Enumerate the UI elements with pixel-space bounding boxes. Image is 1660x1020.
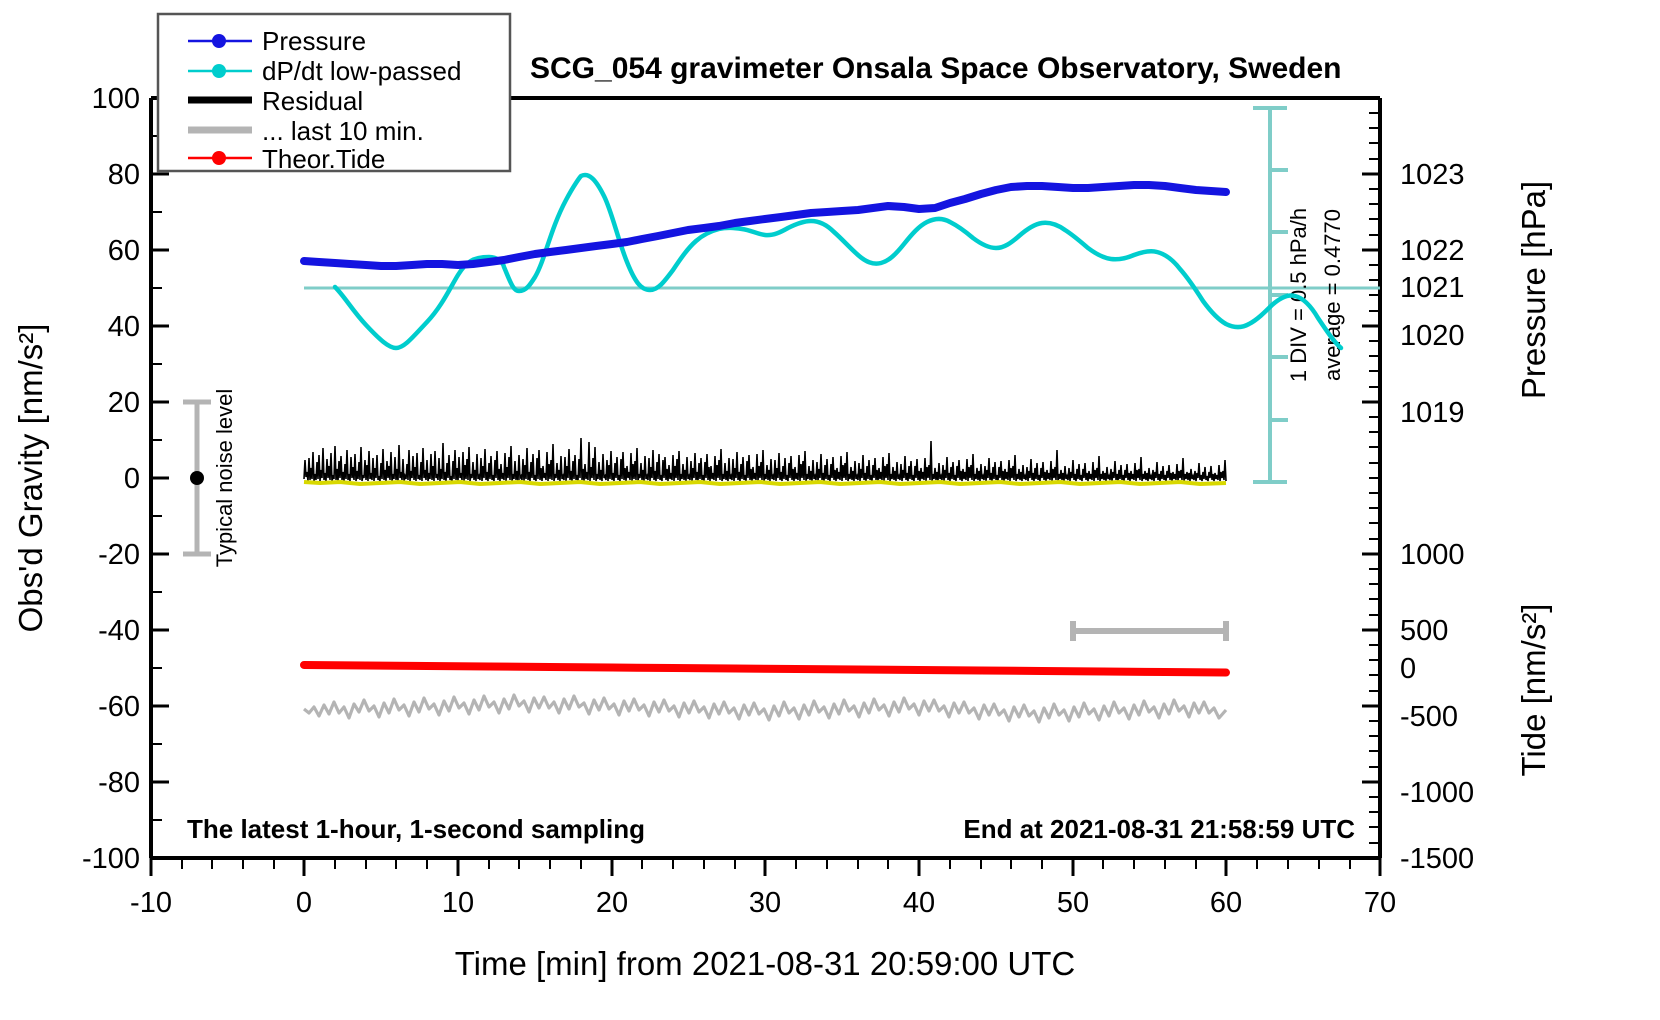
tide-tick-label: 500 (1400, 615, 1448, 647)
y-left-tick-label: 60 (108, 235, 140, 267)
pressure-tick-label: 1020 (1400, 320, 1465, 352)
x-tick-label: 70 (1364, 887, 1396, 919)
dpdt-scale-label-2: average = 0.4770 (1320, 209, 1345, 381)
legend-label: dP/dt low-passed (262, 56, 461, 86)
page-title: SCG_054 gravimeter Onsala Space Observat… (530, 52, 1342, 85)
legend-label: ... last 10 min. (262, 116, 424, 146)
tide-tick-label: -500 (1400, 701, 1458, 733)
x-tick-label: 40 (903, 887, 935, 919)
tide-tick-label: -1500 (1400, 843, 1474, 875)
x-tick-label: 0 (296, 887, 312, 919)
x-tick-label: -10 (130, 887, 172, 919)
legend-label: Pressure (262, 26, 366, 56)
pressure-tick-label: 1021 (1400, 272, 1465, 304)
tide-tick-label: -1000 (1400, 777, 1474, 809)
gravimeter-plot-page: 100 80 60 40 20 0 -20 -40 -60 -80 -100 O… (0, 0, 1660, 1020)
annotation-bottom-right: End at 2021-08-31 21:58:59 UTC (963, 814, 1355, 844)
y-left-tick-label: -80 (98, 767, 140, 799)
legend: Pressure dP/dt low-passed Residual ... l… (158, 14, 510, 174)
y-left-tick-label: 100 (92, 83, 140, 115)
pressure-tick-label: 1022 (1400, 235, 1465, 267)
tide-axis-title: Tide [nm/s²] (1515, 604, 1552, 777)
legend-label: Theor.Tide (262, 144, 385, 174)
y-left-tick-label: -100 (82, 843, 140, 875)
y-left-tick-label: 80 (108, 159, 140, 191)
tide-tick-label: 1000 (1400, 539, 1465, 571)
x-tick-label: 30 (749, 887, 781, 919)
legend-label: Residual (262, 86, 363, 116)
y-left-tick-label: 40 (108, 311, 140, 343)
x-tick-label: 50 (1057, 887, 1089, 919)
typical-noise-label: Typical noise level (212, 389, 237, 568)
x-tick-label: 60 (1210, 887, 1242, 919)
tide-tick-label: 0 (1400, 653, 1416, 685)
pressure-tick-label: 1019 (1400, 397, 1465, 429)
x-axis-title: Time [min] from 2021-08-31 20:59:00 UTC (455, 945, 1076, 982)
pressure-axis-title: Pressure [hPa] (1515, 181, 1552, 399)
curve-residual-smoothed (304, 482, 1226, 484)
y-left-axis-title: Obs'd Gravity [nm/s²] (12, 324, 49, 633)
y-left-tick-label: -20 (98, 539, 140, 571)
x-tick-label: 10 (442, 887, 474, 919)
annotation-bottom-left: The latest 1-hour, 1-second sampling (187, 814, 645, 844)
y-left-tick-label: 0 (124, 463, 140, 495)
y-left-tick-label: -60 (98, 691, 140, 723)
x-tick-label: 20 (596, 887, 628, 919)
y-left-tick-label: 20 (108, 387, 140, 419)
pressure-tick-label: 1023 (1400, 159, 1465, 191)
plot-canvas: 100 80 60 40 20 0 -20 -40 -60 -80 -100 O… (0, 0, 1660, 1020)
y-left-tick-label: -40 (98, 615, 140, 647)
